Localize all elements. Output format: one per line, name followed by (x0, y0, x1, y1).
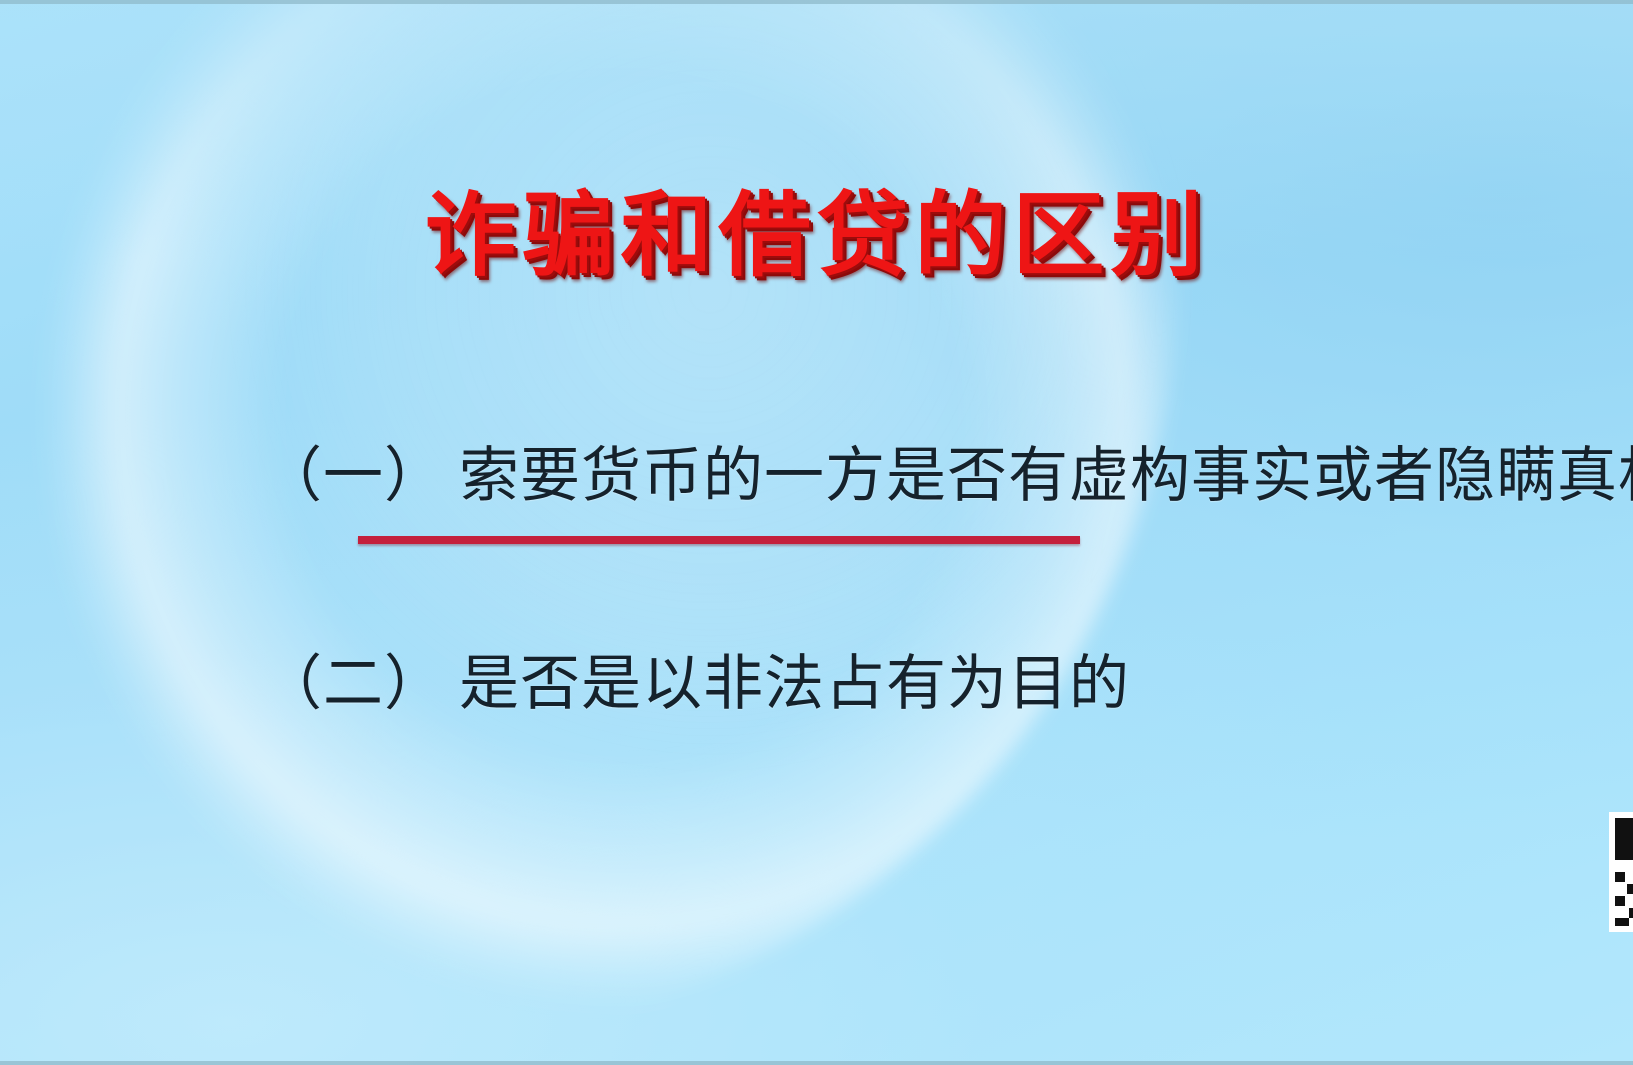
slide-content: 诈骗和借贷的区别 （一）索要货币的一方是否有虚构事实或者隐瞒真相的行为 （二）是… (0, 0, 1633, 1065)
emphasis-underline (358, 536, 1080, 544)
bullet-item-1: （一）索要货币的一方是否有虚构事实或者隐瞒真相的行为 (262, 446, 1633, 506)
bullet-list: （一）索要货币的一方是否有虚构事实或者隐瞒真相的行为 （二）是否是以非法占有为目… (262, 446, 1633, 714)
bullet-text-2: 是否是以非法占有为目的 (459, 650, 1130, 717)
qr-code-modules (1615, 818, 1633, 926)
qr-code-icon (1609, 812, 1633, 932)
bullet-marker-1: （一） (262, 446, 445, 506)
bullet-text-1: 索要货币的一方是否有虚构事实或者隐瞒真相的行为 (459, 442, 1633, 509)
slide-title: 诈骗和借贷的区别 (0, 188, 1633, 285)
bullet-marker-2: （二） (262, 654, 445, 714)
bullet-item-2: （二）是否是以非法占有为目的 (262, 654, 1633, 714)
presentation-slide: 诈骗和借贷的区别 （一）索要货币的一方是否有虚构事实或者隐瞒真相的行为 （二）是… (0, 0, 1633, 1065)
